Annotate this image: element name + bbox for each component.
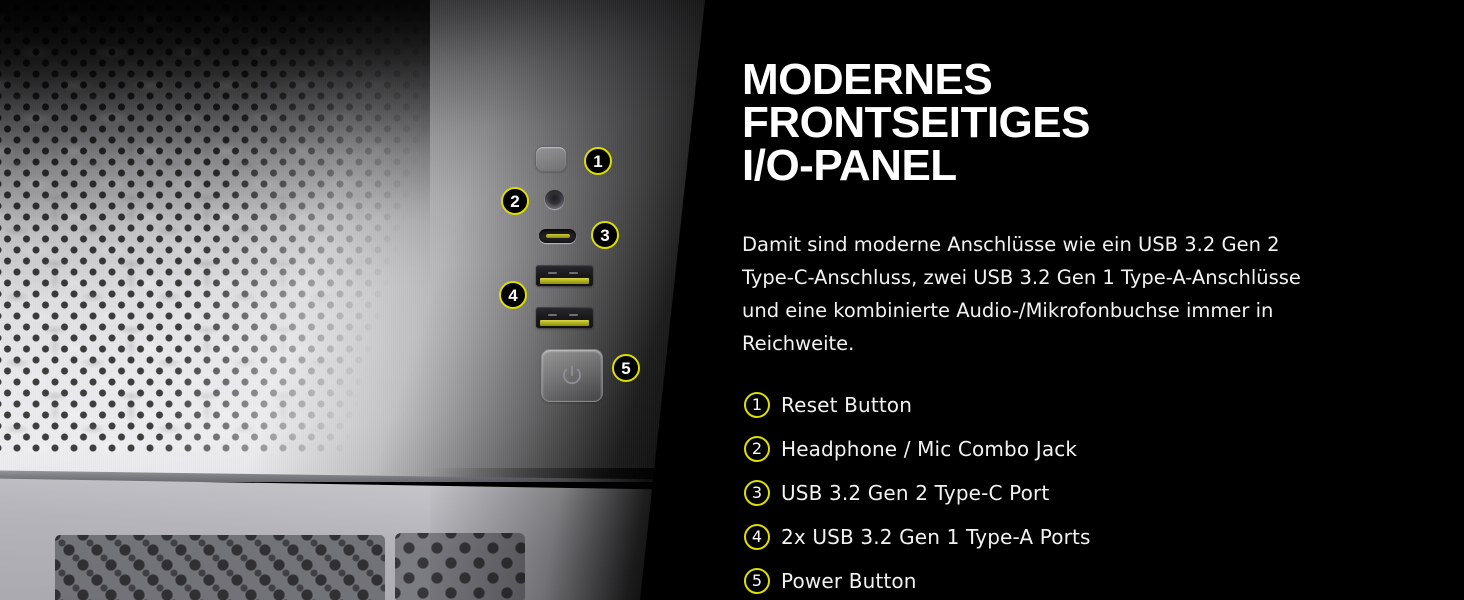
usb-a-cavity-upper (539, 268, 590, 286)
legend-label-4: 2x USB 3.2 Gen 1 Type-A Ports (781, 525, 1091, 549)
legend-badge-4: 4 (744, 524, 770, 550)
promo-banner: 1 2 3 4 5 MODERNES FRONTSEITIGES I/O-PAN… (0, 0, 1464, 600)
pc-case-photo: 1 2 3 4 5 (0, 0, 760, 600)
list-item: 1 Reset Button (744, 383, 1304, 427)
usb-a-port-lower[interactable] (536, 307, 593, 328)
legend-badge-2: 2 (744, 436, 770, 462)
page-title: MODERNES FRONTSEITIGES I/O-PANEL (742, 58, 1090, 187)
usb-a-cavity-lower (539, 310, 590, 328)
usb-a-pin-icon (548, 314, 557, 316)
power-button[interactable] (541, 349, 603, 402)
usb-a-pin-icon (569, 272, 578, 274)
photo-callout-5: 5 (612, 354, 640, 382)
usb-a-tongue (540, 278, 589, 284)
headline-line-3: I/O-PANEL (742, 144, 1090, 187)
photo-callout-1: 1 (584, 147, 612, 175)
legend-label-5: Power Button (781, 569, 917, 593)
usb-a-port-upper[interactable] (536, 265, 593, 286)
description-paragraph: Damit sind moderne Anschlüsse wie ein US… (742, 228, 1302, 360)
legend-label-3: USB 3.2 Gen 2 Type-C Port (781, 481, 1049, 505)
list-item: 4 2x USB 3.2 Gen 1 Type-A Ports (744, 515, 1304, 559)
usb-a-pin-icon (569, 314, 578, 316)
usb-a-tongue (540, 320, 589, 326)
photo-callout-3: 3 (591, 221, 619, 249)
list-item: 2 Headphone / Mic Combo Jack (744, 427, 1304, 471)
io-legend-list: 1 Reset Button 2 Headphone / Mic Combo J… (744, 383, 1304, 600)
usb-a-pin-icon (548, 272, 557, 274)
text-column: MODERNES FRONTSEITIGES I/O-PANEL Damit s… (742, 0, 1442, 600)
list-item: 5 Power Button (744, 559, 1304, 600)
legend-badge-3: 3 (744, 480, 770, 506)
headline-line-1: MODERNES (742, 58, 1090, 101)
legend-badge-1: 1 (744, 392, 770, 418)
list-item: 3 USB 3.2 Gen 2 Type-C Port (744, 471, 1304, 515)
bottom-intake-mesh (55, 535, 385, 600)
photo-callout-2: 2 (501, 187, 529, 215)
usb-c-port[interactable] (539, 229, 576, 243)
reset-button[interactable] (535, 146, 567, 172)
headphone-mic-combo-jack[interactable] (545, 190, 564, 209)
legend-label-1: Reset Button (781, 393, 912, 417)
legend-badge-5: 5 (744, 568, 770, 594)
headline-line-2: FRONTSEITIGES (742, 101, 1090, 144)
power-icon (559, 363, 585, 389)
bottom-intake-mesh-right (395, 533, 525, 600)
legend-label-2: Headphone / Mic Combo Jack (781, 437, 1077, 461)
photo-callout-4: 4 (499, 281, 527, 309)
